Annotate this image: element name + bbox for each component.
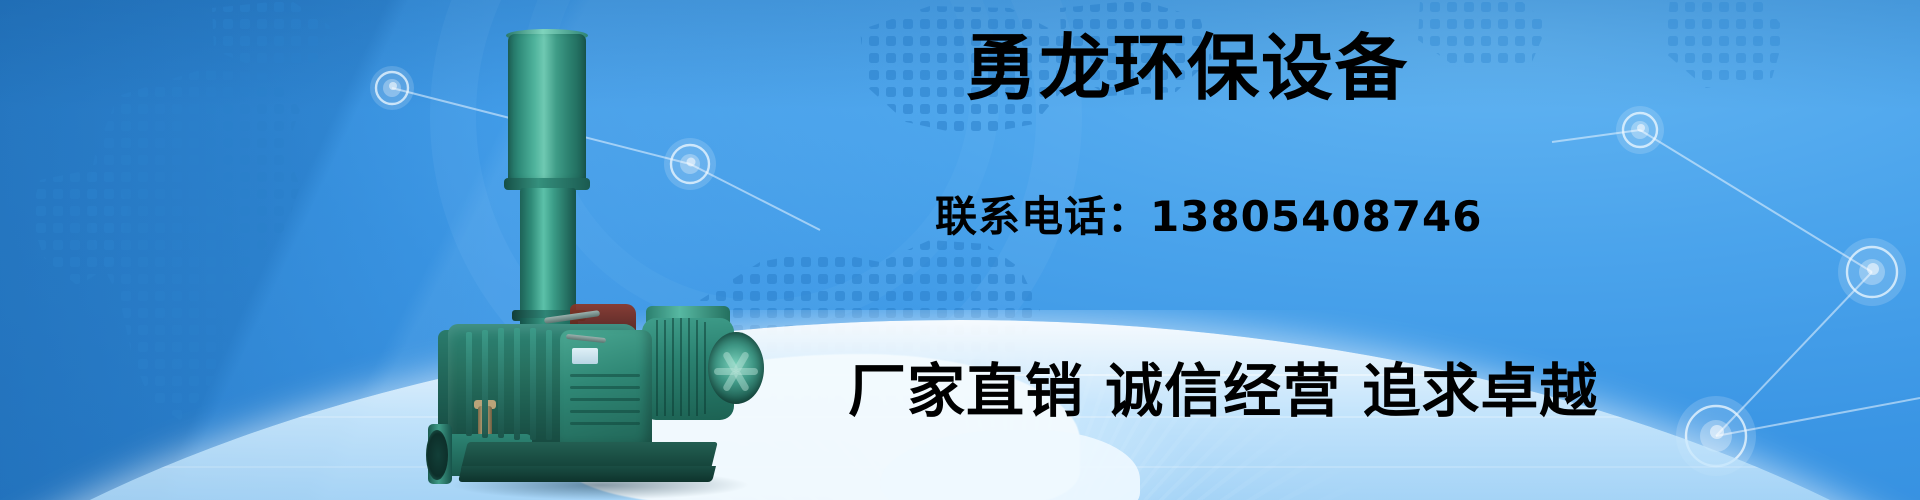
network-node [1616,106,1664,154]
motor-fan-cover [708,332,764,404]
silencer-pipe [520,188,576,316]
nameplate-label [572,348,598,364]
silencer-cylinder [508,34,586,186]
inlet-opening [426,430,448,480]
promo-banner: 勇龙环保设备 联系电话：13805408746 厂家直销 诚信经营 追求卓越 [0,0,1920,500]
contact-phone: 联系电话：13805408746 [935,196,1482,238]
network-node [370,66,414,110]
network-node [1838,238,1906,306]
company-slogan: 厂家直销 诚信经营 追求卓越 [848,362,1598,420]
roots-blower-product-image [420,18,770,500]
base-plate-front [458,466,716,482]
company-title: 勇龙环保设备 [965,32,1409,104]
